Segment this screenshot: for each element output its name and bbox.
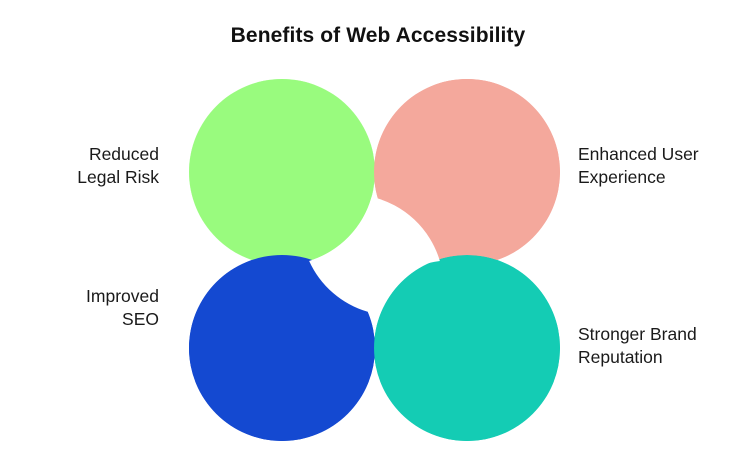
label-reduced-legal-risk: Reduced Legal Risk	[77, 143, 159, 189]
green-over-pink-region	[189, 79, 375, 265]
label-enhanced-user-experience: Enhanced User Experience	[578, 143, 699, 189]
teal-over-blue-region	[374, 255, 560, 441]
label-stronger-brand-reputation: Stronger Brand Reputation	[578, 323, 697, 369]
label-improved-seo: Improved SEO	[86, 285, 159, 331]
four-circle-pinwheel-diagram	[0, 0, 756, 469]
diagram-canvas: Benefits of Web Accessibility	[0, 0, 756, 469]
